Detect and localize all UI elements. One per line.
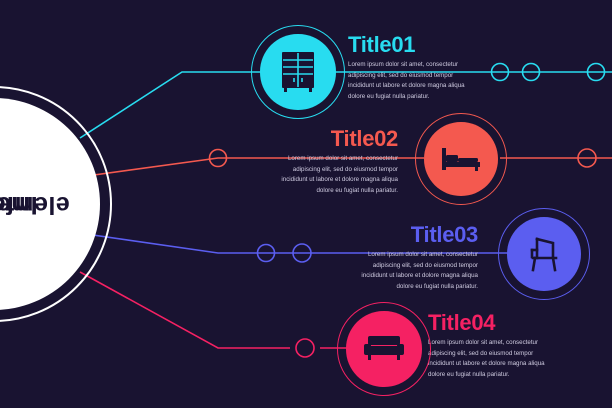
body-2: Lorem ipsum dolor sit amet, consectetur …	[278, 154, 398, 197]
node-circle-2[interactable]	[415, 113, 507, 205]
title-3: Title03	[358, 224, 478, 246]
body-4: Lorem ipsum dolor sit amet, consectetur …	[428, 338, 546, 381]
body-3: Lorem ipsum dolor sit amet, consectetur …	[358, 250, 478, 293]
node-circle-3[interactable]	[498, 208, 590, 300]
wardrobe-icon	[251, 25, 345, 119]
text-block-4: Title04 Lorem ipsum dolor sit amet, cons…	[428, 312, 546, 381]
title-1: Title01	[348, 34, 466, 56]
connector-row-4	[80, 272, 352, 348]
text-block-3: Title03 Lorem ipsum dolor sit amet, cons…	[358, 224, 478, 293]
chair-icon	[498, 208, 590, 300]
title-2: Title02	[278, 128, 398, 150]
hub-label-line2: element	[0, 191, 92, 218]
hub-label: Infographic element	[0, 98, 100, 310]
connector-node	[296, 339, 314, 357]
bed-icon	[415, 113, 507, 205]
body-1: Lorem ipsum dolor sit amet, consectetur …	[348, 60, 466, 103]
title-4: Title04	[428, 312, 546, 334]
node-circle-1[interactable]	[251, 25, 345, 119]
text-block-2: Title02 Lorem ipsum dolor sit amet, cons…	[278, 128, 398, 197]
text-block-1: Title01 Lorem ipsum dolor sit amet, cons…	[348, 34, 466, 103]
infographic-canvas: Infographic element	[0, 0, 612, 408]
node-circle-4[interactable]	[337, 302, 431, 396]
sofa-icon	[337, 302, 431, 396]
